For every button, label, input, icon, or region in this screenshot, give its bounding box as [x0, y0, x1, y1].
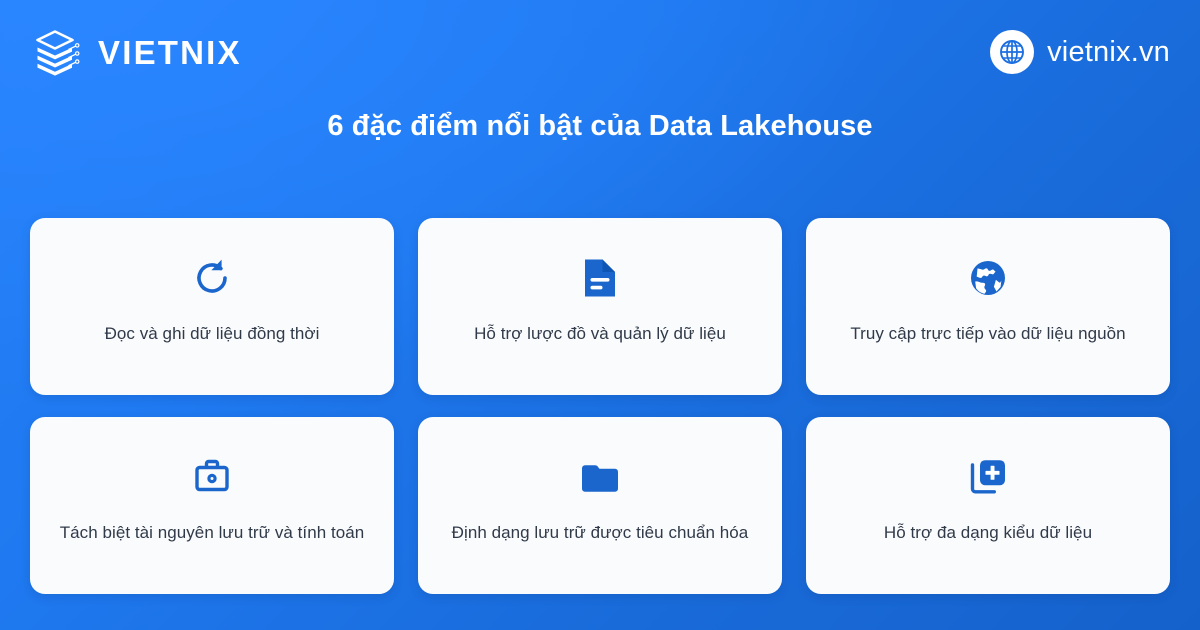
feature-card-grid: Đọc và ghi dữ liệu đồng thời Hỗ trợ lược…: [30, 218, 1170, 594]
feature-card[interactable]: Tách biệt tài nguyên lưu trữ và tính toá…: [30, 417, 394, 594]
folder-icon: [578, 454, 622, 500]
page-title: 6 đặc điểm nổi bật của Data Lakehouse: [0, 108, 1200, 144]
globe-icon: [990, 30, 1034, 74]
briefcase-icon: [190, 454, 234, 500]
feature-card[interactable]: Định dạng lưu trữ được tiêu chuẩn hóa: [418, 417, 782, 594]
feature-card[interactable]: Truy cập trực tiếp vào dữ liệu nguồn: [806, 218, 1170, 395]
poster-canvas: VIETNIX vietnix.vn 6 đặc điểm nổi bật củ…: [0, 0, 1200, 630]
feature-card-label: Truy cập trực tiếp vào dữ liệu nguồn: [850, 323, 1125, 345]
feature-card-label: Hỗ trợ lược đồ và quản lý dữ liệu: [474, 323, 726, 345]
feature-card-label: Đọc và ghi dữ liệu đồng thời: [105, 323, 320, 345]
site-url-text: vietnix.vn: [1047, 38, 1170, 67]
add-to-collection-icon: [967, 454, 1009, 500]
feature-card-label: Tách biệt tài nguyên lưu trữ và tính toá…: [60, 522, 365, 544]
brand-logo[interactable]: VIETNIX: [28, 24, 242, 80]
feature-card[interactable]: Hỗ trợ lược đồ và quản lý dữ liệu: [418, 218, 782, 395]
feature-card[interactable]: Đọc và ghi dữ liệu đồng thời: [30, 218, 394, 395]
feature-card-label: Hỗ trợ đa dạng kiểu dữ liệu: [884, 522, 1092, 544]
refresh-cw-icon: [190, 255, 234, 301]
feature-card-label: Định dạng lưu trữ được tiêu chuẩn hóa: [452, 522, 749, 544]
brand-name: VIETNIX: [98, 36, 242, 69]
feature-card[interactable]: Hỗ trợ đa dạng kiểu dữ liệu: [806, 417, 1170, 594]
document-lines-icon: [579, 255, 621, 301]
header-bar: VIETNIX vietnix.vn: [0, 0, 1200, 104]
globe-world-icon: [967, 255, 1009, 301]
stacked-layers-logo-icon: [28, 24, 84, 80]
site-url-link[interactable]: vietnix.vn: [990, 30, 1170, 74]
